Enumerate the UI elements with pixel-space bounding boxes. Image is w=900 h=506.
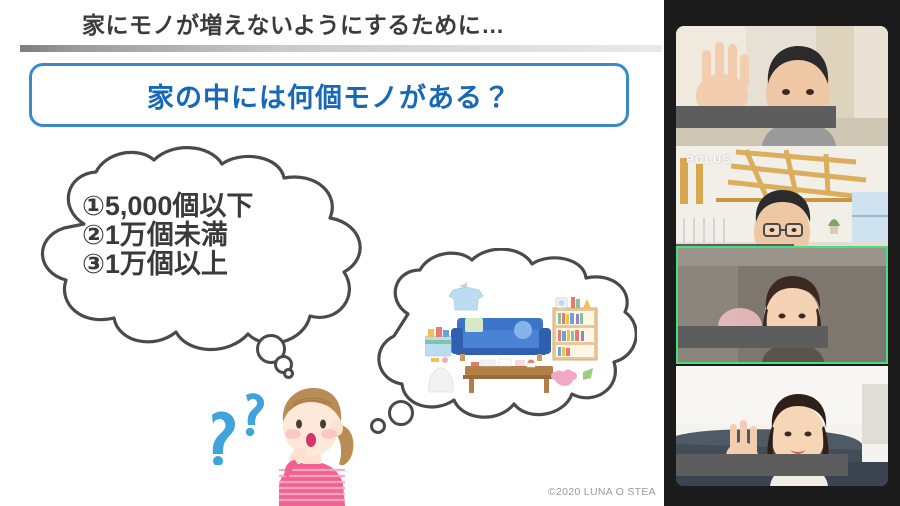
bookshelf-icon <box>553 297 597 360</box>
cluttered-room-illustration <box>425 280 600 400</box>
sofa-icon <box>451 318 551 361</box>
participant-name-redaction-4 <box>676 454 848 476</box>
slide-screenshot: 家にモノが増えないようにするために… 家の中には何個モノがある？ ①5,000個… <box>0 0 900 506</box>
participant-tile-1[interactable] <box>676 26 888 146</box>
coffee-table-icon <box>463 359 555 393</box>
thought-bubble-small <box>388 400 414 426</box>
participant-tile-3[interactable] <box>676 246 888 364</box>
participant-video-1 <box>676 26 888 146</box>
answer-options-list: ①5,000個以下 ②1万個未満 ③1万個以上 <box>82 192 253 279</box>
list-item: ③1万個以上 <box>82 250 253 279</box>
toy-box-icon <box>425 327 451 363</box>
presentation-slide: 家にモノが増えないようにするために… 家の中には何個モノがある？ ①5,000個… <box>0 0 664 506</box>
copyright-notice: ©2020 LUNA O STEA <box>548 486 656 498</box>
title-divider <box>20 45 662 52</box>
beanbag-icon <box>429 368 454 392</box>
thought-bubble-small <box>283 368 294 379</box>
list-item: ①5,000個以下 <box>82 192 253 221</box>
watermark-sub: ポラス <box>687 148 699 153</box>
video-participants-panel: ポラス POLUS <box>664 0 900 506</box>
participant-name-redaction-3 <box>678 326 828 348</box>
participant-tile-4[interactable] <box>676 366 888 486</box>
question-box: 家の中には何個モノがある？ <box>29 63 629 127</box>
hanging-shirt-icon <box>449 282 483 310</box>
page-title: 家にモノが増えないようにするために… <box>82 6 505 40</box>
list-item: ②1万個未満 <box>82 221 253 250</box>
stuffed-toy-icon <box>551 368 593 386</box>
thinking-woman-illustration <box>255 380 370 506</box>
thought-bubble-small <box>370 418 386 434</box>
polus-watermark: POLUS <box>686 154 731 166</box>
question-box-text: 家の中には何個モノがある？ <box>147 76 511 115</box>
participant-name-redaction-1 <box>676 106 836 128</box>
